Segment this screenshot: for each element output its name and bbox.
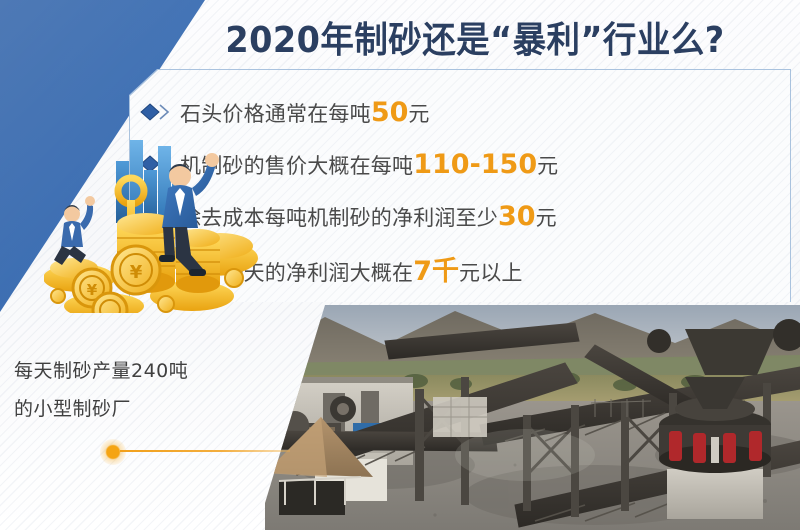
celebrating-figure — [54, 196, 95, 265]
highlight-number: 50 — [371, 97, 409, 128]
caption-line-2: 的小型制砂厂 — [14, 390, 269, 428]
svg-text:¥: ¥ — [87, 281, 98, 299]
list-item-label: 石头价格通常在每吨50元 — [180, 97, 430, 128]
gold-coins-businessmen-bar-chart-illustration: ¥ ¥ — [44, 128, 259, 313]
highlight-number: 30 — [498, 201, 536, 232]
poster-canvas: 红星机器 红星机器 2020年制砂还是“暴利”行业么? 石头价格通常在每吨50元 — [0, 0, 800, 530]
diamond-chevron-icon — [140, 102, 174, 122]
svg-text:¥: ¥ — [130, 262, 143, 283]
page-title: 2020年制砂还是“暴利”行业么? — [182, 8, 768, 66]
sand-making-plant-photo — [265, 305, 800, 530]
photo-caption: 每天制砂产量240吨 的小型制砂厂 — [14, 352, 269, 428]
highlight-number: 7千 — [413, 256, 459, 287]
pointer-line — [120, 450, 290, 452]
highlight-number: 110-150 — [413, 149, 537, 180]
caption-line-1: 每天制砂产量240吨 — [14, 352, 269, 390]
pointer-dot-icon — [100, 439, 126, 465]
